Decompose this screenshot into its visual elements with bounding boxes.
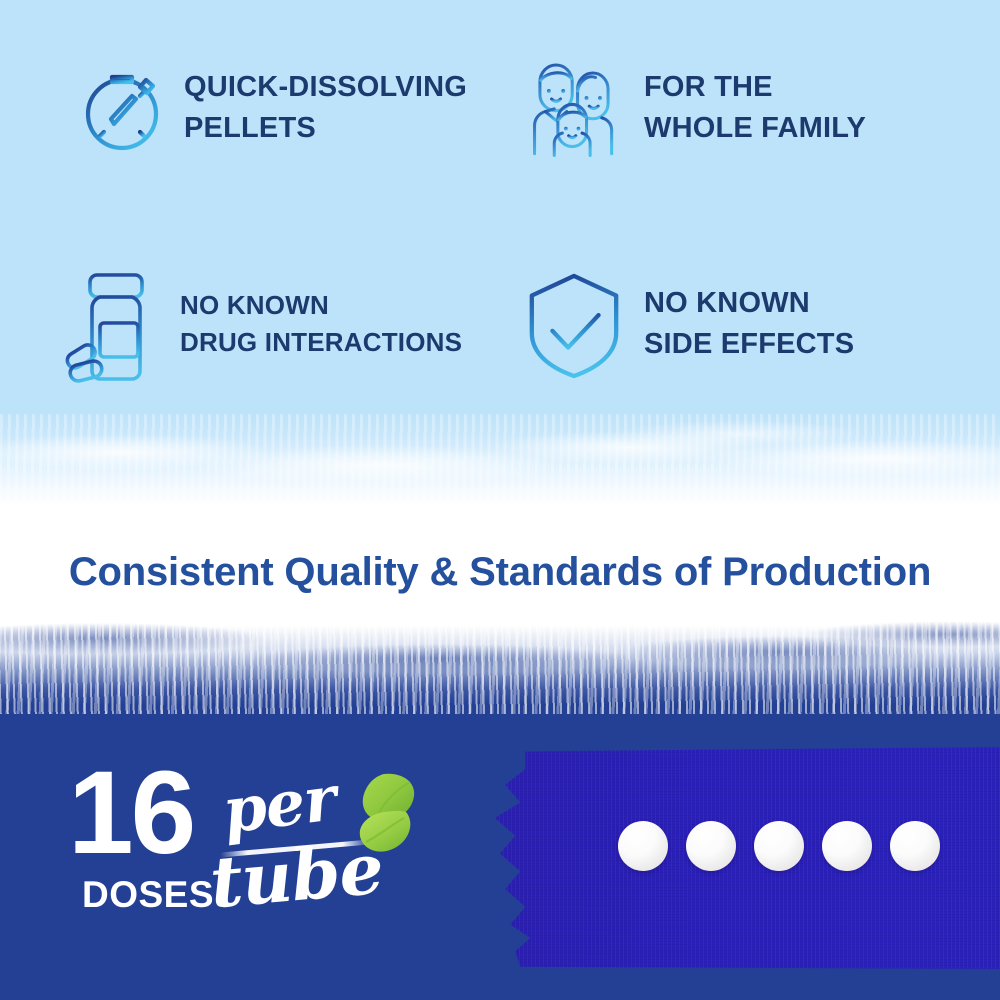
feature-whole-family: FOR THE WHOLE FAMILY bbox=[500, 0, 1000, 216]
feature-no-drug-interactions: NO KNOWN DRUG INTERACTIONS bbox=[0, 216, 500, 432]
feature-no-side-effects: NO KNOWN SIDE EFFECTS bbox=[500, 216, 1000, 432]
stopwatch-icon bbox=[62, 49, 166, 167]
feature-grid: QUICK-DISSOLVING PELLETS bbox=[0, 0, 1000, 432]
page-headline: Consistent Quality & Standards of Produc… bbox=[69, 550, 931, 595]
infographic-page: QUICK-DISSOLVING PELLETS bbox=[0, 0, 1000, 1000]
doses-block: 16 DOSES per tube bbox=[68, 760, 448, 940]
pellet bbox=[754, 821, 804, 871]
doses-count: 16 bbox=[68, 754, 193, 872]
feature-label: QUICK-DISSOLVING PELLETS bbox=[184, 67, 467, 149]
pellet-row bbox=[618, 821, 940, 871]
feature-label: NO KNOWN DRUG INTERACTIONS bbox=[180, 287, 462, 361]
doses-label: DOSES bbox=[82, 874, 214, 916]
headline-band: Consistent Quality & Standards of Produc… bbox=[0, 520, 1000, 624]
feature-label: FOR THE WHOLE FAMILY bbox=[644, 67, 866, 149]
features-panel: QUICK-DISSOLVING PELLETS bbox=[0, 0, 1000, 432]
pill-bottle-icon bbox=[62, 268, 162, 380]
pellet bbox=[686, 821, 736, 871]
shield-check-icon bbox=[522, 265, 626, 383]
feature-label: NO KNOWN SIDE EFFECTS bbox=[644, 283, 854, 365]
watercolor-divider-bottom bbox=[0, 610, 1000, 720]
pellet bbox=[618, 821, 668, 871]
doses-panel: 16 DOSES per tube bbox=[0, 714, 1000, 1000]
watercolor-divider-top bbox=[0, 414, 1000, 526]
mint-leaf-icon bbox=[332, 770, 418, 870]
pellet bbox=[822, 821, 872, 871]
feature-quick-dissolving: QUICK-DISSOLVING PELLETS bbox=[0, 0, 500, 216]
family-icon bbox=[522, 49, 626, 167]
pellet bbox=[890, 821, 940, 871]
